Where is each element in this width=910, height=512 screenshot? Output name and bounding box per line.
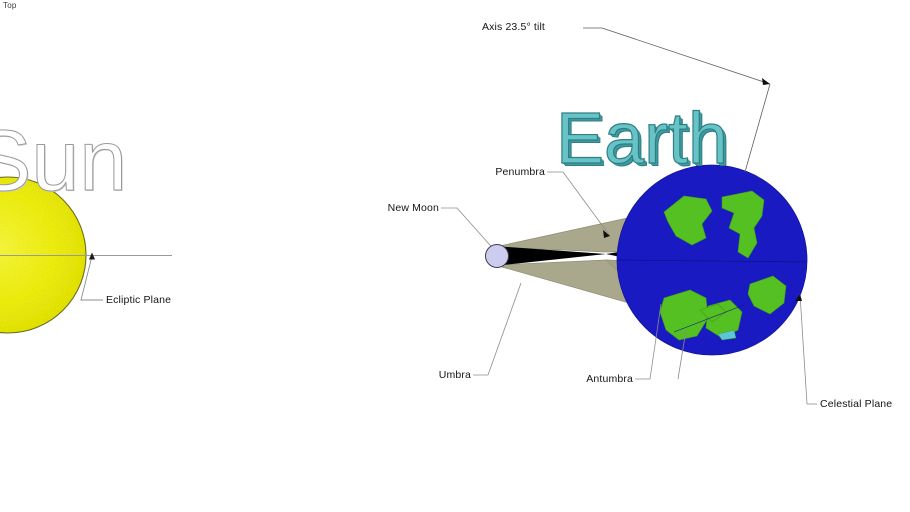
label-penumbra: Penumbra (495, 166, 545, 178)
label-umbra: Umbra (439, 369, 471, 381)
earth-body (617, 165, 807, 355)
label-ecliptic-plane: Ecliptic Plane (106, 294, 171, 306)
sun-title: Sun (0, 112, 127, 211)
new-moon-leader (441, 208, 497, 253)
new-moon-body (486, 245, 509, 268)
label-antumbra: Antumbra (586, 373, 633, 385)
scene-graphics (0, 0, 910, 512)
axis-tilt-arrowhead (762, 78, 770, 85)
umbra-leader (473, 283, 521, 375)
celestial-plane-leader (800, 294, 817, 404)
label-axis-tilt: Axis 23.5° tilt (482, 21, 545, 33)
earth-title: Earth (556, 98, 728, 180)
label-celestial-plane: Celestial Plane (820, 398, 892, 410)
diagram-canvas: Top (0, 0, 910, 512)
label-new-moon: New Moon (388, 202, 439, 214)
